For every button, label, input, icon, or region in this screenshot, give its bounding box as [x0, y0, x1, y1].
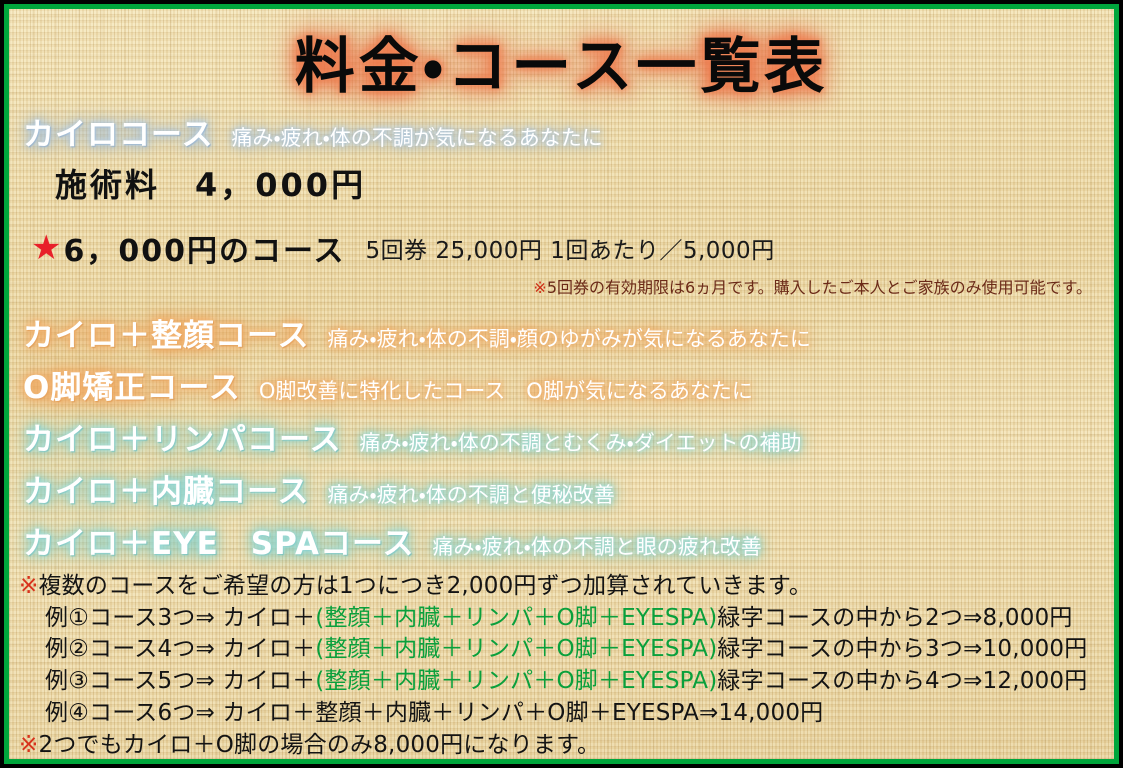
note-footer-mark: ※ — [19, 732, 38, 758]
course-desc-naizo: 痛み・疲れ・体の不調と便秘改善 — [327, 479, 614, 509]
course-name-seigan: カイロ＋整顔コース — [23, 310, 309, 355]
note-example-3-green: (整顔＋内臓＋リンパ＋O脚＋EYESPA) — [315, 668, 717, 694]
course-row-naizo: カイロ＋内臓コース 痛み・疲れ・体の不調と便秘改善 — [23, 466, 1114, 511]
expiry-text: 5回券の有効期限は6ヵ月です。購入したご本人とご家族のみ使用可能です。 — [547, 278, 1092, 297]
note-example-3: 例③コース5つ⇒ カイロ＋(整顔＋内臓＋リンパ＋O脚＋EYESPA)緑字コースの… — [19, 666, 1114, 698]
course-desc-okyaku: O脚改善に特化したコース O脚が気になるあなたに — [259, 375, 753, 405]
price-course-poster: 料金・コース一覧表 カイロコース 痛み・疲れ・体の不調が気になるあなたに 施術料… — [0, 0, 1123, 768]
notes-section: ※複数のコースをご希望の方は1つにつき2,000円ずつ加算されていきます。 例①… — [9, 571, 1114, 759]
course-name-eyespa: カイロ＋EYE SPAコース — [23, 518, 414, 563]
course-desc-lymph: 痛み・疲れ・体の不調とむくみ・ダイエットの補助 — [359, 427, 801, 457]
chiro-course-block: カイロコース 痛み・疲れ・体の不調が気になるあなたに 施術料 4，000円 — [9, 109, 1114, 206]
course-name-chiro: カイロコース — [23, 109, 213, 154]
note-example-1-green: (整顔＋内臓＋リンパ＋O脚＋EYESPA) — [315, 605, 717, 631]
ticket-expiry-note: ※5回券の有効期限は6ヵ月です。購入したご本人とご家族のみ使用可能です。 — [23, 274, 1114, 298]
note-example-1-post: 緑字コースの中から2つ⇒8,000円 — [717, 605, 1072, 631]
note-example-2-green: (整顔＋内臓＋リンパ＋O脚＋EYESPA) — [315, 636, 717, 662]
title-row: 料金・コース一覧表 — [9, 9, 1114, 109]
note-example-2: 例②コース4つ⇒ カイロ＋(整顔＋内臓＋リンパ＋O脚＋EYESPA)緑字コースの… — [19, 634, 1114, 666]
note-example-4-pre: 例④コース6つ⇒ カイロ＋整顔＋内臓＋リンパ＋O脚＋EYESPA⇒14,000円 — [45, 700, 823, 726]
poster-green-frame: 料金・コース一覧表 カイロコース 痛み・疲れ・体の不調が気になるあなたに 施術料… — [4, 4, 1119, 764]
course-row-eyespa: カイロ＋EYE SPAコース 痛み・疲れ・体の不調と眼の疲れ改善 — [23, 518, 1114, 563]
course-desc-eyespa: 痛み・疲れ・体の不調と眼の疲れ改善 — [432, 531, 761, 561]
ticket-course-title: 6，000円のコース — [63, 226, 345, 270]
note-example-4: 例④コース6つ⇒ カイロ＋整顔＋内臓＋リンパ＋O脚＋EYESPA⇒14,000円 — [19, 698, 1114, 730]
poster-paper-background: 料金・コース一覧表 カイロコース 痛み・疲れ・体の不調が気になるあなたに 施術料… — [9, 9, 1114, 759]
course-row-okyaku: O脚矯正コース O脚改善に特化したコース O脚が気になるあなたに — [23, 362, 1114, 407]
course-name-okyaku: O脚矯正コース — [23, 362, 241, 407]
page-title: 料金・コース一覧表 — [295, 18, 828, 105]
ticket-course-block: ★ 6，000円のコース 5回券 25,000円 1回あたり／5,000円 ※5… — [9, 226, 1114, 298]
note-footer: ※2つでもカイロ＋O脚の場合のみ8,000円になります。 — [19, 730, 1114, 759]
note-headline: ※複数のコースをご希望の方は1つにつき2,000円ずつ加算されていきます。 — [19, 571, 1114, 603]
note-example-1: 例①コース3つ⇒ カイロ＋(整顔＋内臓＋リンパ＋O脚＋EYESPA)緑字コースの… — [19, 603, 1114, 635]
note-headline-text: 複数のコースをご希望の方は1つにつき2,000円ずつ加算されていきます。 — [38, 573, 812, 599]
course-name-naizo: カイロ＋内臓コース — [23, 466, 309, 511]
note-footer-text: 2つでもカイロ＋O脚の場合のみ8,000円になります。 — [38, 732, 600, 758]
star-icon: ★ — [31, 231, 61, 265]
note-example-2-post: 緑字コースの中から3つ⇒10,000円 — [717, 636, 1087, 662]
expiry-mark: ※ — [533, 278, 546, 297]
ticket-course-row: ★ 6，000円のコース 5回券 25,000円 1回あたり／5,000円 — [23, 226, 1114, 270]
note-example-1-pre: 例①コース3つ⇒ カイロ＋ — [45, 605, 315, 631]
ticket-course-note: 5回券 25,000円 1回あたり／5,000円 — [365, 231, 774, 265]
course-name-lymph: カイロ＋リンパコース — [23, 414, 341, 459]
note-headline-mark: ※ — [19, 573, 38, 599]
note-example-3-pre: 例③コース5つ⇒ カイロ＋ — [45, 668, 315, 694]
course-row-lymph: カイロ＋リンパコース 痛み・疲れ・体の不調とむくみ・ダイエットの補助 — [23, 414, 1114, 459]
note-example-3-post: 緑字コースの中から4つ⇒12,000円 — [717, 668, 1087, 694]
note-example-2-pre: 例②コース4つ⇒ カイロ＋ — [45, 636, 315, 662]
course-row-chiro: カイロコース 痛み・疲れ・体の不調が気になるあなたに — [23, 109, 1114, 154]
course-list: カイロ＋整顔コース 痛み・疲れ・体の不調・顔のゆがみが気になるあなたに O脚矯正… — [9, 310, 1114, 563]
course-row-seigan: カイロ＋整顔コース 痛み・疲れ・体の不調・顔のゆがみが気になるあなたに — [23, 310, 1114, 355]
course-desc-seigan: 痛み・疲れ・体の不調・顔のゆがみが気になるあなたに — [327, 323, 810, 353]
chiro-fee: 施術料 4，000円 — [23, 160, 1114, 206]
course-desc-chiro: 痛み・疲れ・体の不調が気になるあなたに — [231, 122, 602, 152]
